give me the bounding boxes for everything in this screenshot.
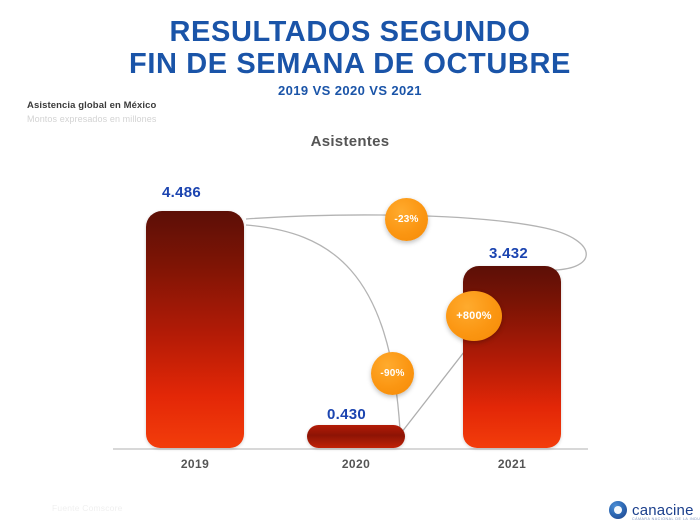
canacine-circle-icon bbox=[609, 501, 627, 519]
annotation-bubble-2019-2020: -90% bbox=[371, 352, 414, 395]
connector-2019-to-2020 bbox=[246, 225, 400, 430]
bar-2019[interactable] bbox=[146, 211, 244, 448]
value-label-2020: 0.430 bbox=[327, 406, 366, 423]
annotation-bubble-2019-2021: -23% bbox=[385, 198, 428, 241]
value-label-2019: 4.486 bbox=[162, 184, 201, 201]
category-label-2020: 2020 bbox=[307, 457, 405, 471]
axis-baseline bbox=[113, 448, 588, 450]
bar-2020[interactable] bbox=[307, 425, 405, 448]
category-label-2021: 2021 bbox=[463, 457, 561, 471]
annotation-bubble-2020-2021: +800% bbox=[446, 291, 502, 341]
value-label-2021: 3.432 bbox=[489, 245, 528, 262]
connector-lines bbox=[0, 0, 700, 532]
source-note: Fuente Comscore bbox=[52, 503, 123, 513]
canacine-logo-tagline: CÁMARA NACIONAL DE LA INDUSTRIA CINEMATO… bbox=[632, 517, 700, 521]
slide-root: RESULTADOS SEGUNDO FIN DE SEMANA DE OCTU… bbox=[0, 0, 700, 532]
chart-plot-area: 4.486 0.430 3.432 2019 2020 2021 -23% -9… bbox=[0, 0, 700, 532]
canacine-logo-text: canacine bbox=[632, 503, 694, 518]
category-label-2019: 2019 bbox=[146, 457, 244, 471]
